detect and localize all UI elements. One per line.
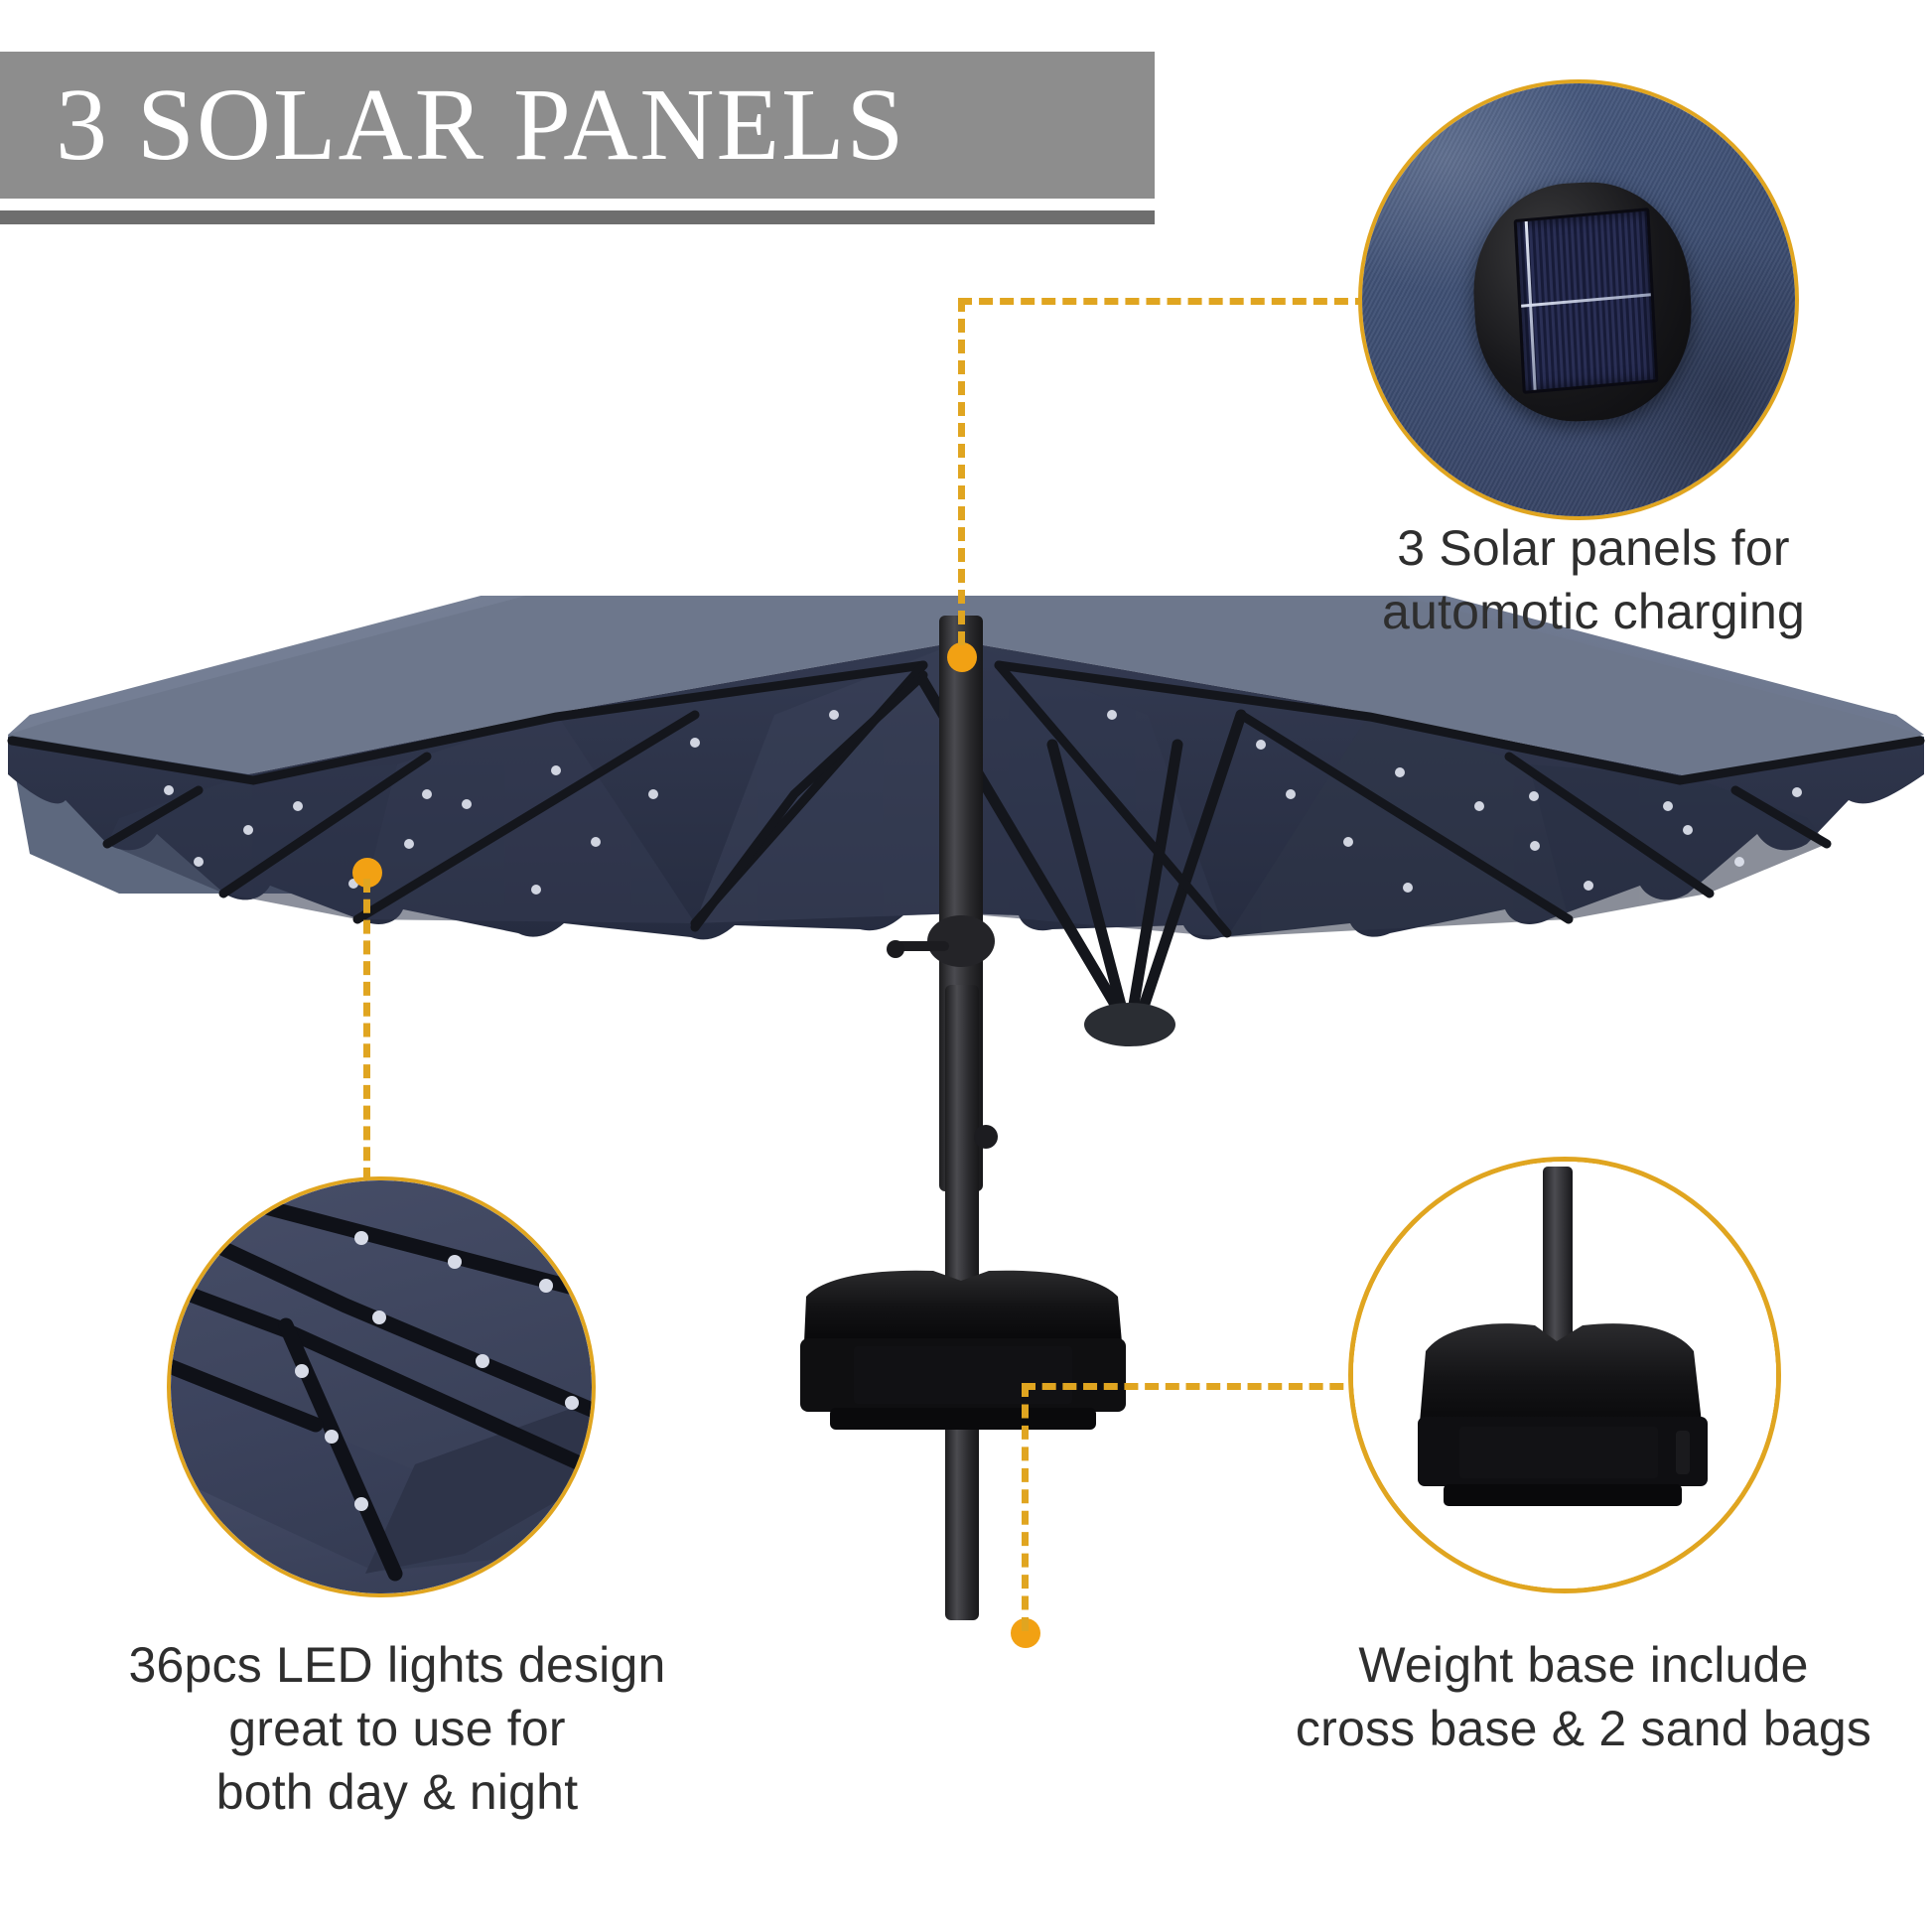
weight-base — [800, 1271, 1126, 1430]
marker-dot-solar — [947, 642, 977, 672]
solar-cell-grid — [1514, 207, 1659, 394]
infographic-canvas: 3 SOLAR PANELS — [0, 0, 1932, 1932]
caption-solar-panels: 3 Solar panels for automotic charging — [1246, 516, 1932, 643]
solar-busbar-horizontal — [1521, 293, 1651, 307]
connector-base-vertical — [1022, 1383, 1029, 1631]
header-underline-bar — [0, 210, 1155, 224]
inset-led-lights-closeup — [167, 1176, 596, 1597]
caption-base-line-1: Weight base include — [1226, 1633, 1932, 1697]
header-banner: 3 SOLAR PANELS — [0, 52, 1155, 199]
caption-solar-line-2: automotic charging — [1246, 580, 1932, 643]
connector-solar-vertical — [958, 298, 965, 645]
hub-collar-left — [1084, 1003, 1175, 1046]
caption-led-line-1: 36pcs LED lights design — [50, 1633, 745, 1697]
connector-solar-horizontal — [958, 298, 1369, 305]
connector-base-horizontal — [1022, 1383, 1364, 1390]
inset-weight-base-closeup — [1348, 1157, 1781, 1593]
caption-weight-base: Weight base include cross base & 2 sand … — [1226, 1633, 1932, 1760]
caption-solar-line-1: 3 Solar panels for — [1246, 516, 1932, 580]
caption-led-line-2: great to use for — [50, 1697, 745, 1760]
led-closeup-svg — [167, 1176, 596, 1597]
caption-base-line-2: cross base & 2 sand bags — [1226, 1697, 1932, 1760]
weight-base-svg — [1348, 1157, 1781, 1593]
caption-led-lights: 36pcs LED lights design great to use for… — [50, 1633, 745, 1824]
inset-solar-panel-closeup — [1358, 79, 1799, 520]
weight-base-closeup-art — [1348, 1157, 1781, 1593]
height-adjust-knob — [974, 1125, 998, 1149]
crank-handle — [887, 915, 995, 967]
page-title: 3 SOLAR PANELS — [0, 73, 905, 177]
led-closeup-art — [167, 1176, 596, 1597]
caption-led-line-3: both day & night — [50, 1760, 745, 1824]
connector-led-vertical — [363, 879, 370, 1181]
